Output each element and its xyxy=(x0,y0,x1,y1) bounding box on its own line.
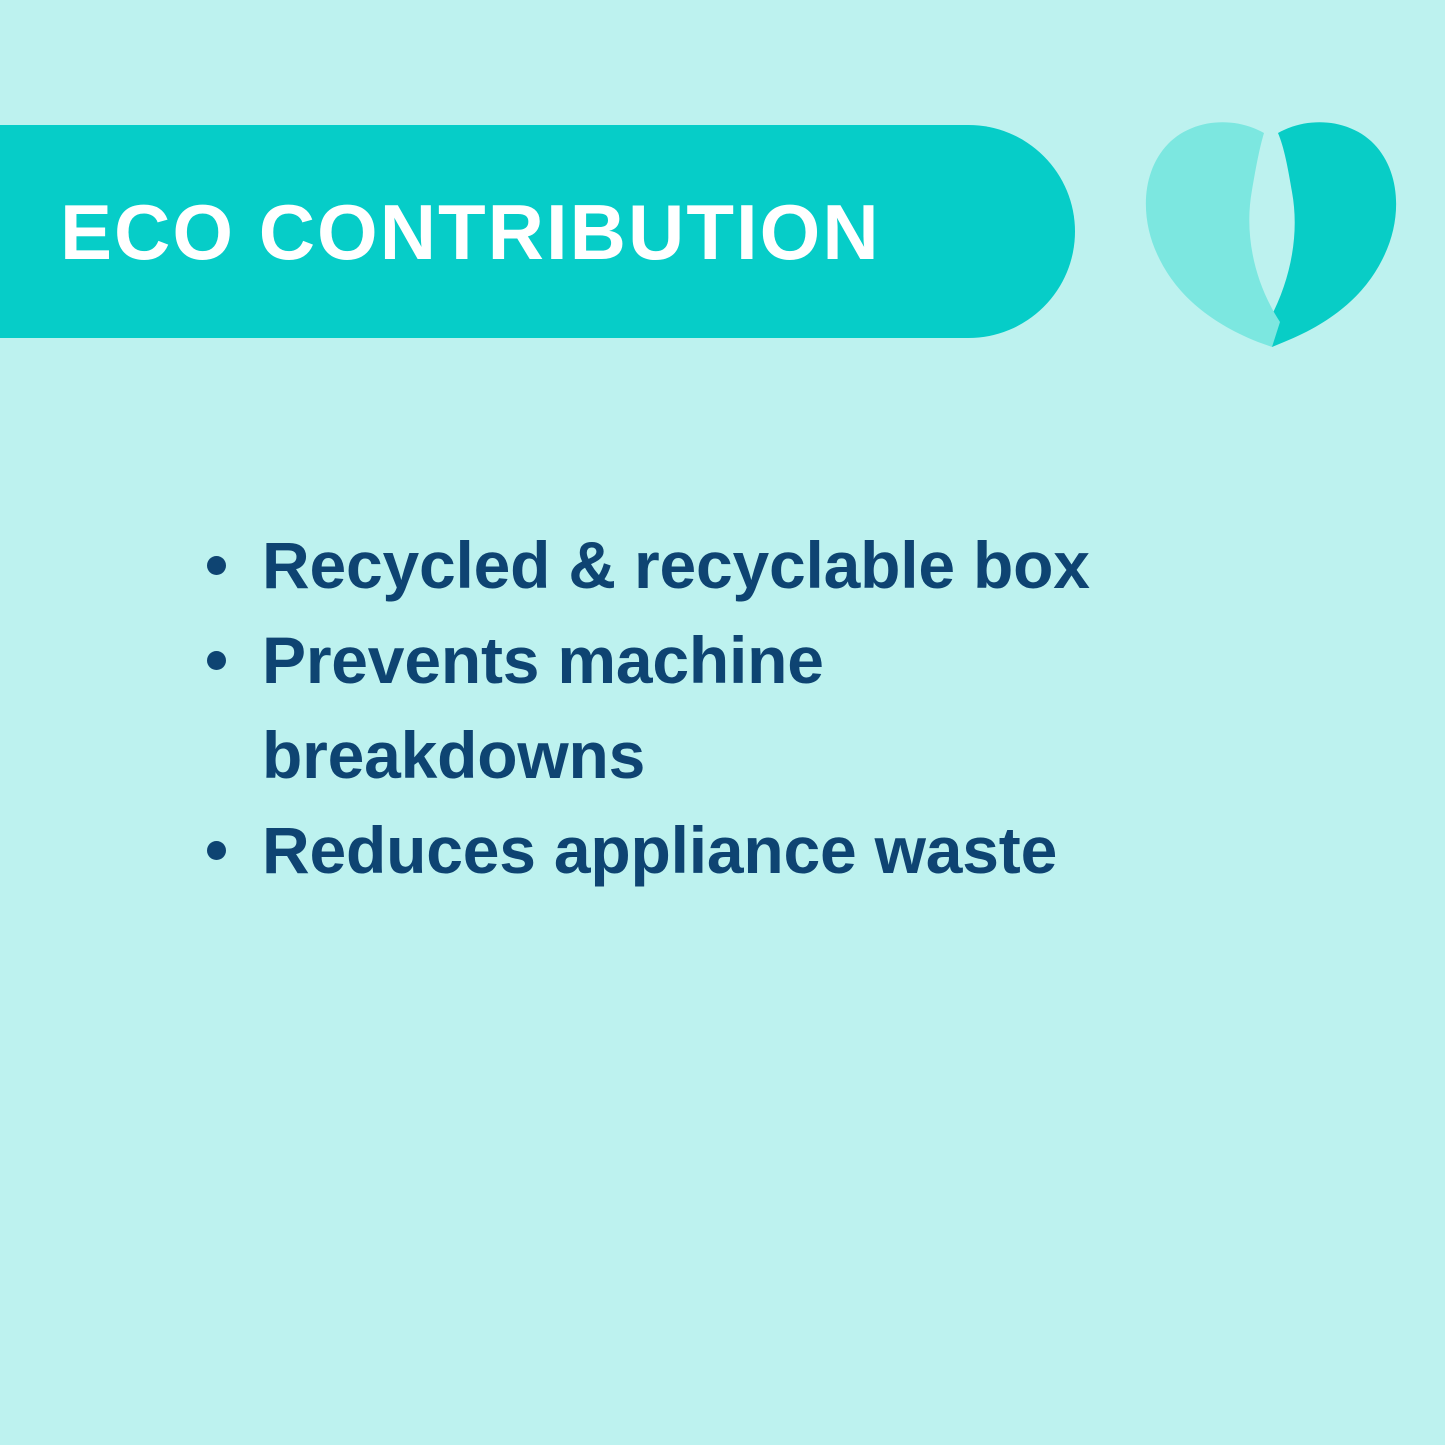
list-item-label: Reduces appliance waste xyxy=(262,803,1265,898)
bullet-icon xyxy=(207,556,226,575)
heart-icon xyxy=(1140,116,1402,348)
heart-icon-svg xyxy=(1140,116,1402,348)
list-item-label: Recycled & recyclable box xyxy=(262,518,1265,613)
bullet-icon xyxy=(207,841,226,860)
bullet-icon xyxy=(207,651,226,670)
benefits-list: Recycled & recyclable box Prevents machi… xyxy=(205,518,1265,898)
heart-left-lobe xyxy=(1146,122,1280,347)
eco-contribution-card: ECO CONTRIBUTION Recycled & recyclable b… xyxy=(0,0,1445,1445)
list-item: Reduces appliance waste xyxy=(205,803,1265,898)
list-item-label: Prevents machine breakdowns xyxy=(262,613,862,803)
header-banner: ECO CONTRIBUTION xyxy=(0,125,1075,338)
list-item: Prevents machine breakdowns xyxy=(205,613,1265,803)
page-title: ECO CONTRIBUTION xyxy=(60,193,881,271)
heart-right-lobe xyxy=(1266,122,1396,347)
list-item: Recycled & recyclable box xyxy=(205,518,1265,613)
